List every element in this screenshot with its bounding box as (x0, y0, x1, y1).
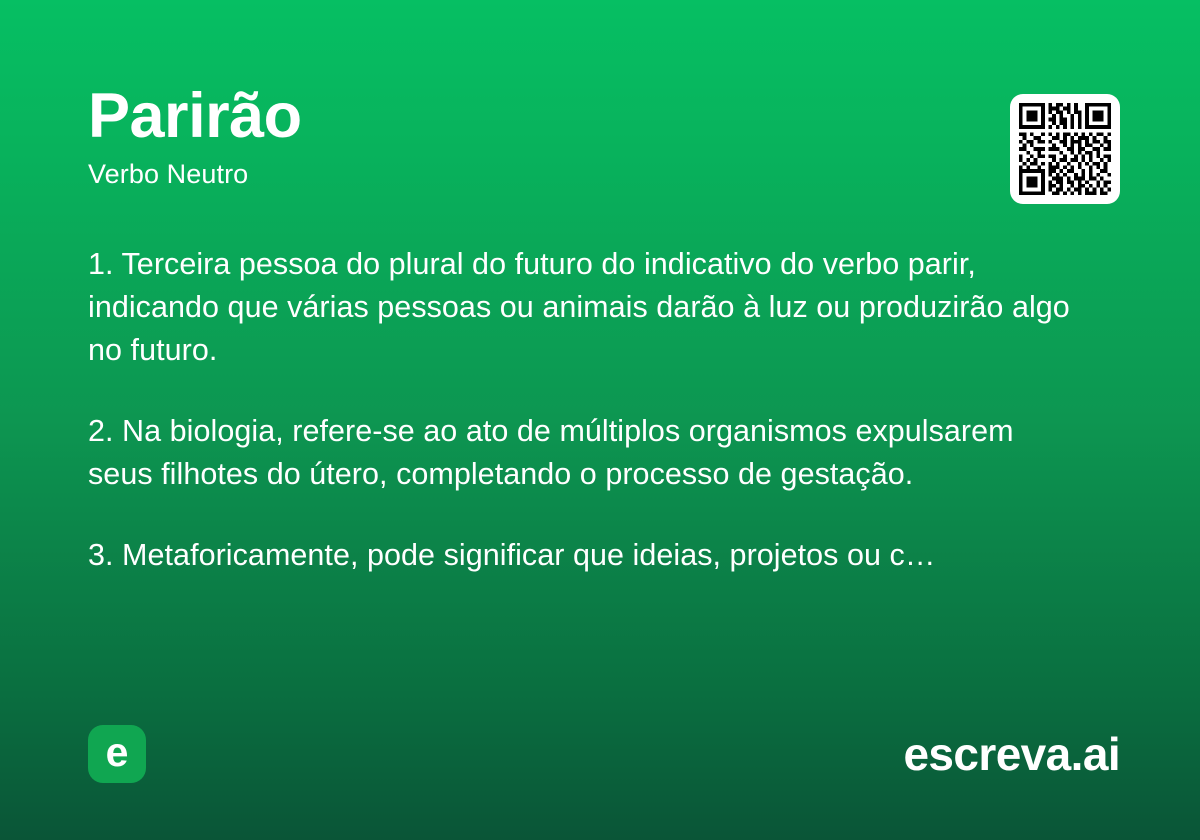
definition-item: 1. Terceira pessoa do plural do futuro d… (88, 243, 1073, 372)
escreva-logo-badge[interactable]: e (88, 725, 146, 783)
word-class-subtitle: Verbo Neutro (88, 160, 1112, 190)
definition-item: 2. Na biologia, refere-se ao ato de múlt… (88, 410, 1073, 496)
card-header: Parirão Verbo Neutro (88, 84, 1112, 214)
page-title: Parirão (88, 84, 1112, 148)
definitions-list: 1. Terceira pessoa do plural do futuro d… (88, 243, 1073, 577)
card-footer: e escreva.ai (88, 724, 1120, 784)
definition-item: 3. Metaforicamente, pode significar que … (88, 534, 1073, 577)
qr-code-icon (1019, 103, 1111, 195)
word-definition-card: Parirão Verbo Neutro (0, 0, 1200, 840)
logo-letter: e (106, 732, 129, 773)
qr-code-card[interactable] (1010, 94, 1120, 204)
brand-wordmark: escreva.ai (903, 731, 1120, 777)
